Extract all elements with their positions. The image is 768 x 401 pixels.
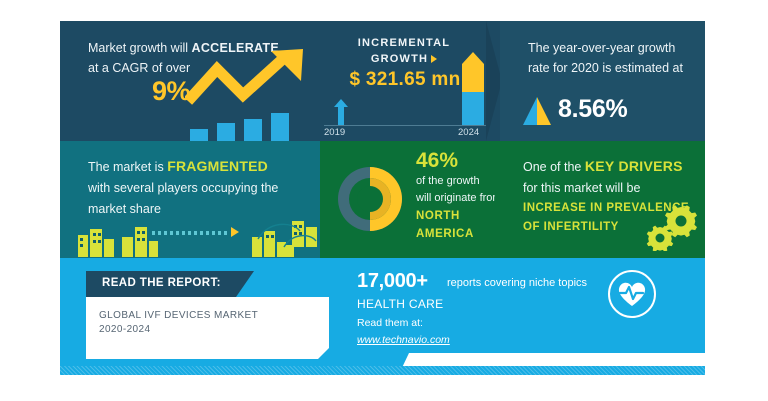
yoy-text: The year-over-year growth rate for 2020 … bbox=[528, 38, 705, 78]
heartbeat-icon bbox=[607, 269, 657, 319]
drivers-text-line2: for this market will be bbox=[523, 181, 640, 195]
infographic-canvas: Market growth will ACCELERATE at a CAGR … bbox=[0, 0, 768, 401]
footer-texture-strip bbox=[60, 366, 705, 375]
donut-chart-icon bbox=[328, 157, 412, 241]
fragmented-text-line3: market share bbox=[88, 202, 161, 216]
technavio-url-link[interactable]: www.technavio.com bbox=[357, 334, 450, 346]
gears-icon bbox=[643, 203, 701, 251]
reports-category: HEALTH CARE bbox=[357, 297, 443, 311]
read-the-report-label: READ THE REPORT: bbox=[102, 277, 221, 289]
yoy-text-line2: rate for 2020 is estimated at bbox=[528, 61, 683, 75]
yoy-text-line1: The year-over-year growth bbox=[528, 41, 675, 55]
panel-region-share: 46% of the growth will originate from NO… bbox=[320, 141, 495, 258]
panel-fragmented: The market is FRAGMENTED with several pl… bbox=[60, 141, 320, 258]
infographic-frame: Market growth will ACCELERATE at a CAGR … bbox=[60, 21, 705, 375]
panel-yoy-growth: The year-over-year growth rate for 2020 … bbox=[500, 21, 705, 141]
panel-cagr: Market growth will ACCELERATE at a CAGR … bbox=[60, 21, 310, 141]
reports-count: 17,000+ bbox=[357, 270, 428, 293]
fragmented-text-prefix: The market is bbox=[88, 160, 167, 174]
incremental-label-line2: GROWTH bbox=[371, 53, 428, 65]
connector-dashed-line bbox=[152, 231, 230, 235]
panel-incremental-growth: INCREMENTAL GROWTH $ 321.65 mn 2019 2024 bbox=[310, 21, 500, 141]
yoy-value: 8.56% bbox=[558, 95, 627, 124]
bar-chart-icon bbox=[190, 113, 310, 141]
drivers-text-prefix: One of the bbox=[523, 160, 585, 174]
bar-arrow-2024-icon bbox=[462, 52, 484, 125]
city-buildings-icon bbox=[70, 215, 320, 257]
cagr-text-line2: at a CAGR of over bbox=[88, 61, 190, 75]
fragmented-text-line2: with several players occupying the bbox=[88, 181, 278, 195]
incremental-year-end: 2024 bbox=[458, 127, 479, 138]
triangle-growth-icon bbox=[520, 97, 554, 125]
panel-key-drivers: One of the KEY DRIVERS for this market w… bbox=[495, 141, 705, 258]
region-line1: of the growth bbox=[416, 175, 480, 187]
report-title: GLOBAL IVF DEVICES MARKET 2020-2024 bbox=[99, 309, 258, 337]
middle-row: The market is FRAGMENTED with several pl… bbox=[60, 141, 705, 258]
drivers-keyword: KEY DRIVERS bbox=[585, 158, 683, 174]
incremental-label-line1: INCREMENTAL bbox=[358, 37, 450, 49]
footer-row: READ THE REPORT: GLOBAL IVF DEVICES MARK… bbox=[60, 258, 705, 375]
read-them-at-label: Read them at: bbox=[357, 317, 423, 329]
fragmented-keyword: FRAGMENTED bbox=[167, 158, 268, 174]
report-title-line1: GLOBAL IVF DEVICES MARKET bbox=[99, 310, 258, 321]
connector-arrow-icon bbox=[231, 227, 239, 237]
read-the-report-tag: READ THE REPORT: bbox=[86, 271, 236, 297]
incremental-axis-line bbox=[324, 125, 489, 126]
cagr-text-prefix: Market growth will bbox=[88, 41, 192, 55]
bar-arrow-2019-icon bbox=[334, 99, 348, 125]
incremental-growth-label: INCREMENTAL GROWTH bbox=[324, 35, 484, 67]
fragmented-text: The market is FRAGMENTED with several pl… bbox=[88, 156, 306, 220]
top-row: Market growth will ACCELERATE at a CAGR … bbox=[60, 21, 705, 141]
growth-arrow-icon bbox=[185, 49, 310, 117]
report-card[interactable]: GLOBAL IVF DEVICES MARKET 2020-2024 bbox=[86, 297, 329, 359]
play-triangle-icon bbox=[431, 55, 437, 63]
report-title-line2: 2020-2024 bbox=[99, 324, 150, 335]
incremental-year-start: 2019 bbox=[324, 127, 345, 138]
region-line2: will originate from bbox=[416, 192, 502, 204]
reports-caption: reports covering niche topics bbox=[447, 277, 587, 289]
